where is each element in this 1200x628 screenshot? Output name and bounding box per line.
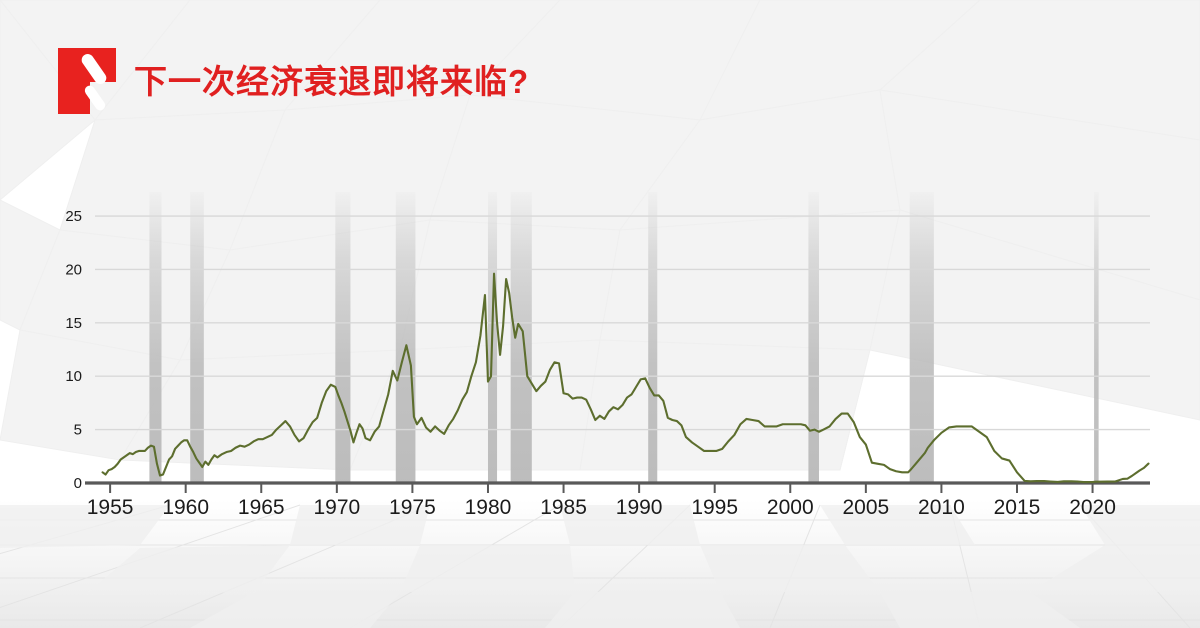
gridlines <box>95 216 1150 430</box>
infographic-canvas: 下一次经济衰退即将来临? 0510152025 1955196019651970… <box>0 0 1200 628</box>
x-axis-labels: 1955196019651970197519801985199019952000… <box>87 496 1116 519</box>
y-tick-label: 25 <box>65 208 82 225</box>
x-tick-label: 1975 <box>389 496 436 519</box>
recession-band <box>190 192 204 483</box>
x-tick-label: 1985 <box>540 496 587 519</box>
x-tick-label: 1965 <box>238 496 285 519</box>
recession-band <box>1094 192 1099 483</box>
y-axis-labels: 0510152025 <box>65 208 82 492</box>
y-tick-label: 20 <box>65 261 82 278</box>
recession-band <box>910 192 934 483</box>
x-tick-label: 2020 <box>1069 496 1116 519</box>
x-tick-label: 1960 <box>162 496 209 519</box>
x-tick-label: 1970 <box>313 496 360 519</box>
rate-line-series <box>103 274 1149 482</box>
series-line <box>103 274 1149 482</box>
x-tick-label: 1995 <box>691 496 738 519</box>
x-tick-label: 1990 <box>616 496 663 519</box>
recession-band <box>808 192 819 483</box>
recession-band <box>511 192 532 483</box>
y-tick-label: 10 <box>65 368 82 385</box>
y-tick-label: 5 <box>74 422 82 439</box>
x-tick-label: 2015 <box>994 496 1041 519</box>
x-tick-label: 1980 <box>465 496 512 519</box>
x-tick-label: 2005 <box>842 496 889 519</box>
recession-band <box>396 192 416 483</box>
y-tick-label: 15 <box>65 315 82 332</box>
recession-bands <box>149 192 1098 483</box>
recession-band <box>149 192 161 483</box>
recession-line-chart: 0510152025 19551960196519701975198019851… <box>0 0 1200 520</box>
y-tick-label: 0 <box>74 475 82 492</box>
chart-container: 0510152025 19551960196519701975198019851… <box>0 0 1200 628</box>
x-axis <box>85 483 1150 493</box>
x-tick-label: 1955 <box>87 496 134 519</box>
x-tick-label: 2000 <box>767 496 814 519</box>
recession-band <box>648 192 657 483</box>
recession-band <box>335 192 350 483</box>
x-tick-label: 2010 <box>918 496 965 519</box>
